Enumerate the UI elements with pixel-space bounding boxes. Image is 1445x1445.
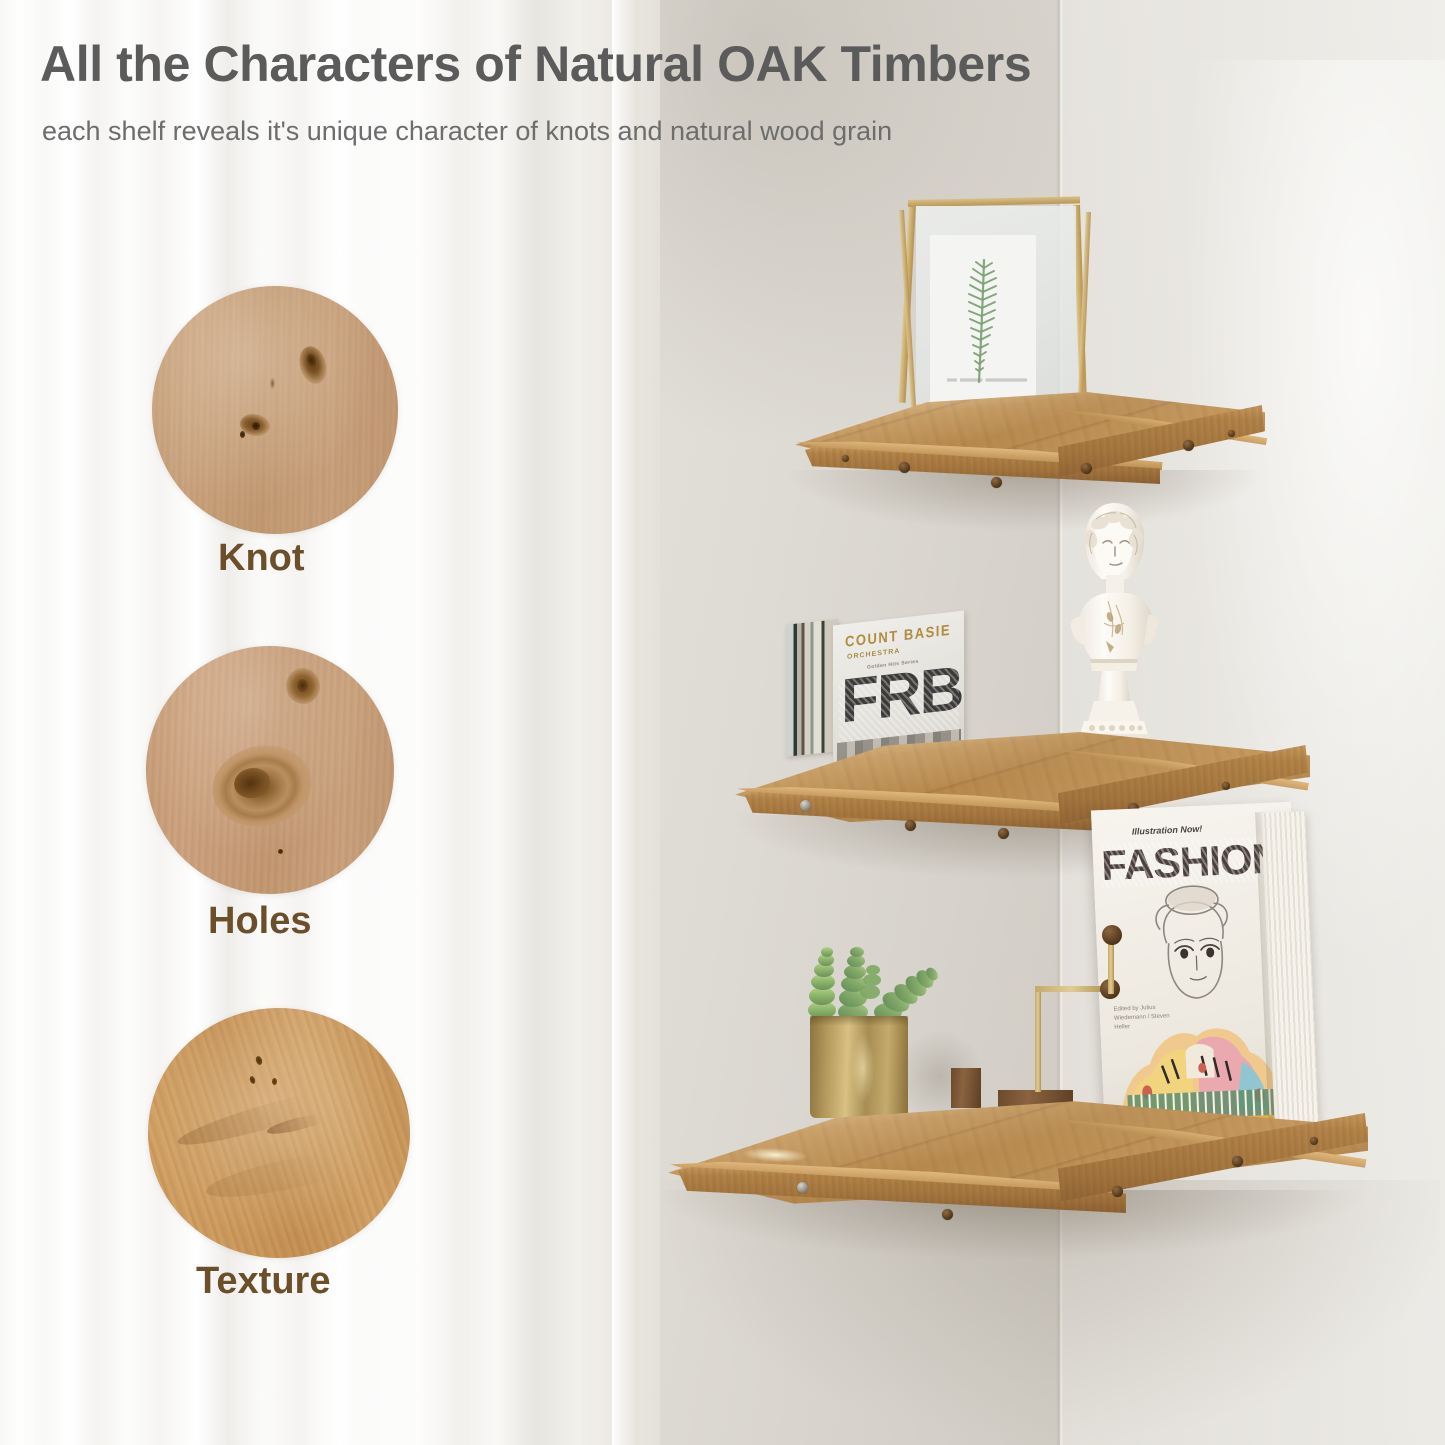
shelf-screw — [842, 455, 849, 462]
shelf-screw — [1228, 430, 1235, 437]
frame-caption — [947, 378, 1027, 381]
knot-hole — [278, 849, 283, 854]
swatch-label-texture: Texture — [196, 1260, 330, 1303]
product-marketing-image: All the Characters of Natural OAK Timber… — [0, 0, 1445, 1445]
bust-sculpture — [1044, 495, 1180, 740]
swatch-label-knot: Knot — [218, 537, 305, 580]
wood-block-small — [951, 1068, 981, 1108]
knot-hole — [240, 431, 245, 438]
page-title: All the Characters of Natural OAK Timber… — [40, 38, 1410, 91]
wood-swatch-texture — [148, 1008, 410, 1258]
brass-bookend-knob-2 — [1102, 925, 1122, 945]
fern-print — [950, 250, 1016, 390]
knot-hole — [252, 422, 260, 430]
brass-bookend-arm — [1035, 986, 1107, 992]
shelf-screw — [1232, 1156, 1243, 1167]
shelf-screw — [998, 828, 1009, 839]
shelf-top-wall-shadow — [790, 470, 1260, 530]
record-stack-back — [786, 619, 838, 756]
swatch-label-holes: Holes — [208, 900, 311, 943]
shelf-screw — [1112, 1186, 1123, 1197]
shelf-screw — [1081, 463, 1092, 474]
shelf-screw — [899, 462, 910, 473]
shelf-screw — [800, 800, 811, 811]
shelf-screw — [1183, 440, 1194, 451]
shelf-screw — [905, 820, 916, 831]
book-title-texture — [1100, 836, 1282, 888]
record-subtitle: ORCHESTRA — [847, 648, 900, 661]
brass-bookend-post — [1035, 990, 1041, 1092]
shelf-screw — [942, 1209, 953, 1220]
shelf-screw — [1310, 1137, 1318, 1145]
shelf-screw — [991, 477, 1002, 488]
pot-rim-shadow — [810, 1016, 908, 1026]
curtain-edge — [612, 0, 638, 1445]
page-subtitle: each shelf reveals it's unique character… — [42, 115, 1402, 149]
pot-specular — [852, 1034, 874, 1102]
shelf-screw — [797, 1182, 808, 1193]
shelf-screw — [1222, 782, 1230, 790]
record-title: COUNT BASIE — [845, 621, 951, 650]
book-series-label: Illustration Now! — [1132, 824, 1203, 837]
knot-hole — [272, 1078, 277, 1085]
grain-fleck — [270, 378, 275, 389]
wood-swatch-knot — [152, 286, 398, 534]
wood-swatch-holes — [146, 646, 394, 894]
knot-hole — [297, 679, 308, 692]
swatch-sheen — [152, 286, 398, 534]
